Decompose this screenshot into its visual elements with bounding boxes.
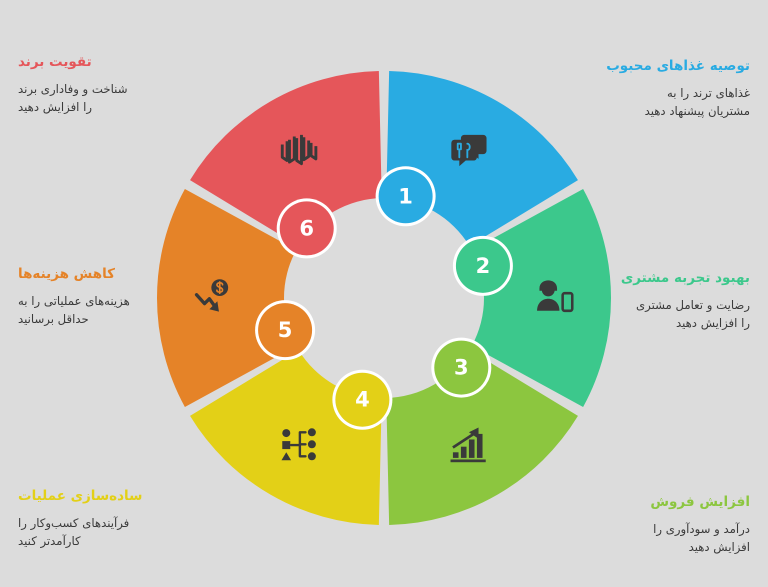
segment-subtitle-3: درآمد و سودآوری را افزایش دهید	[522, 520, 750, 556]
segment-badge-3[interactable]: 3	[431, 338, 491, 398]
segment-layer	[157, 71, 611, 525]
segment-subtitle-2: رضایت و تعامل مشتری را افزایش دهید	[550, 296, 750, 332]
segment-number-1: 1	[398, 184, 413, 208]
segment-number-3: 3	[454, 356, 469, 380]
segment-subtitle-4: فرآیندهای کسب‌وکار را کارآمدتر کنید	[18, 514, 246, 550]
segment-badge-1[interactable]: 1	[376, 166, 436, 226]
segment-subtitle-5: هزینه‌های عملیاتی را به حداقل برسانید	[18, 292, 218, 328]
segment-title-3: افزایش فروش	[522, 492, 750, 513]
segment-label-3: افزایش فروش درآمد و سودآوری را افزایش ده…	[522, 492, 750, 556]
segment-subtitle-1: غذاهای ترند را به مشتریان پیشنهاد دهید	[522, 84, 750, 120]
segment-number-2: 2	[476, 254, 491, 278]
segment-title-5: کاهش هزینه‌ها	[18, 264, 218, 285]
infographic-canvas: 123456 توصیه غذاهای محبوب غذاهای ترند را…	[0, 0, 768, 587]
segment-label-6: تقویت برند شناخت و وفاداری برند را افزای…	[18, 52, 246, 116]
segment-badge-4[interactable]: 4	[332, 370, 392, 430]
segment-badge-6[interactable]: 6	[277, 198, 337, 258]
segment-label-2: بهبود تجربه مشتری رضایت و تعامل مشتری را…	[550, 268, 750, 332]
segment-number-4: 4	[355, 388, 370, 412]
segment-badge-5[interactable]: 5	[255, 300, 315, 360]
segment-number-5: 5	[278, 318, 293, 342]
segment-number-6: 6	[299, 216, 314, 240]
segment-label-4: ساده‌سازی عملیات فرآیندهای کسب‌وکار را ک…	[18, 486, 246, 550]
segment-title-6: تقویت برند	[18, 52, 246, 73]
segment-label-1: توصیه غذاهای محبوب غذاهای ترند را به مشت…	[522, 56, 750, 120]
segment-badge-2[interactable]: 2	[453, 236, 513, 296]
segment-title-2: بهبود تجربه مشتری	[550, 268, 750, 289]
segment-title-1: توصیه غذاهای محبوب	[522, 56, 750, 77]
segment-subtitle-6: شناخت و وفاداری برند را افزایش دهید	[18, 80, 246, 116]
segment-label-5: کاهش هزینه‌ها هزینه‌های عملیاتی را به حد…	[18, 264, 218, 328]
segment-title-4: ساده‌سازی عملیات	[18, 486, 246, 507]
